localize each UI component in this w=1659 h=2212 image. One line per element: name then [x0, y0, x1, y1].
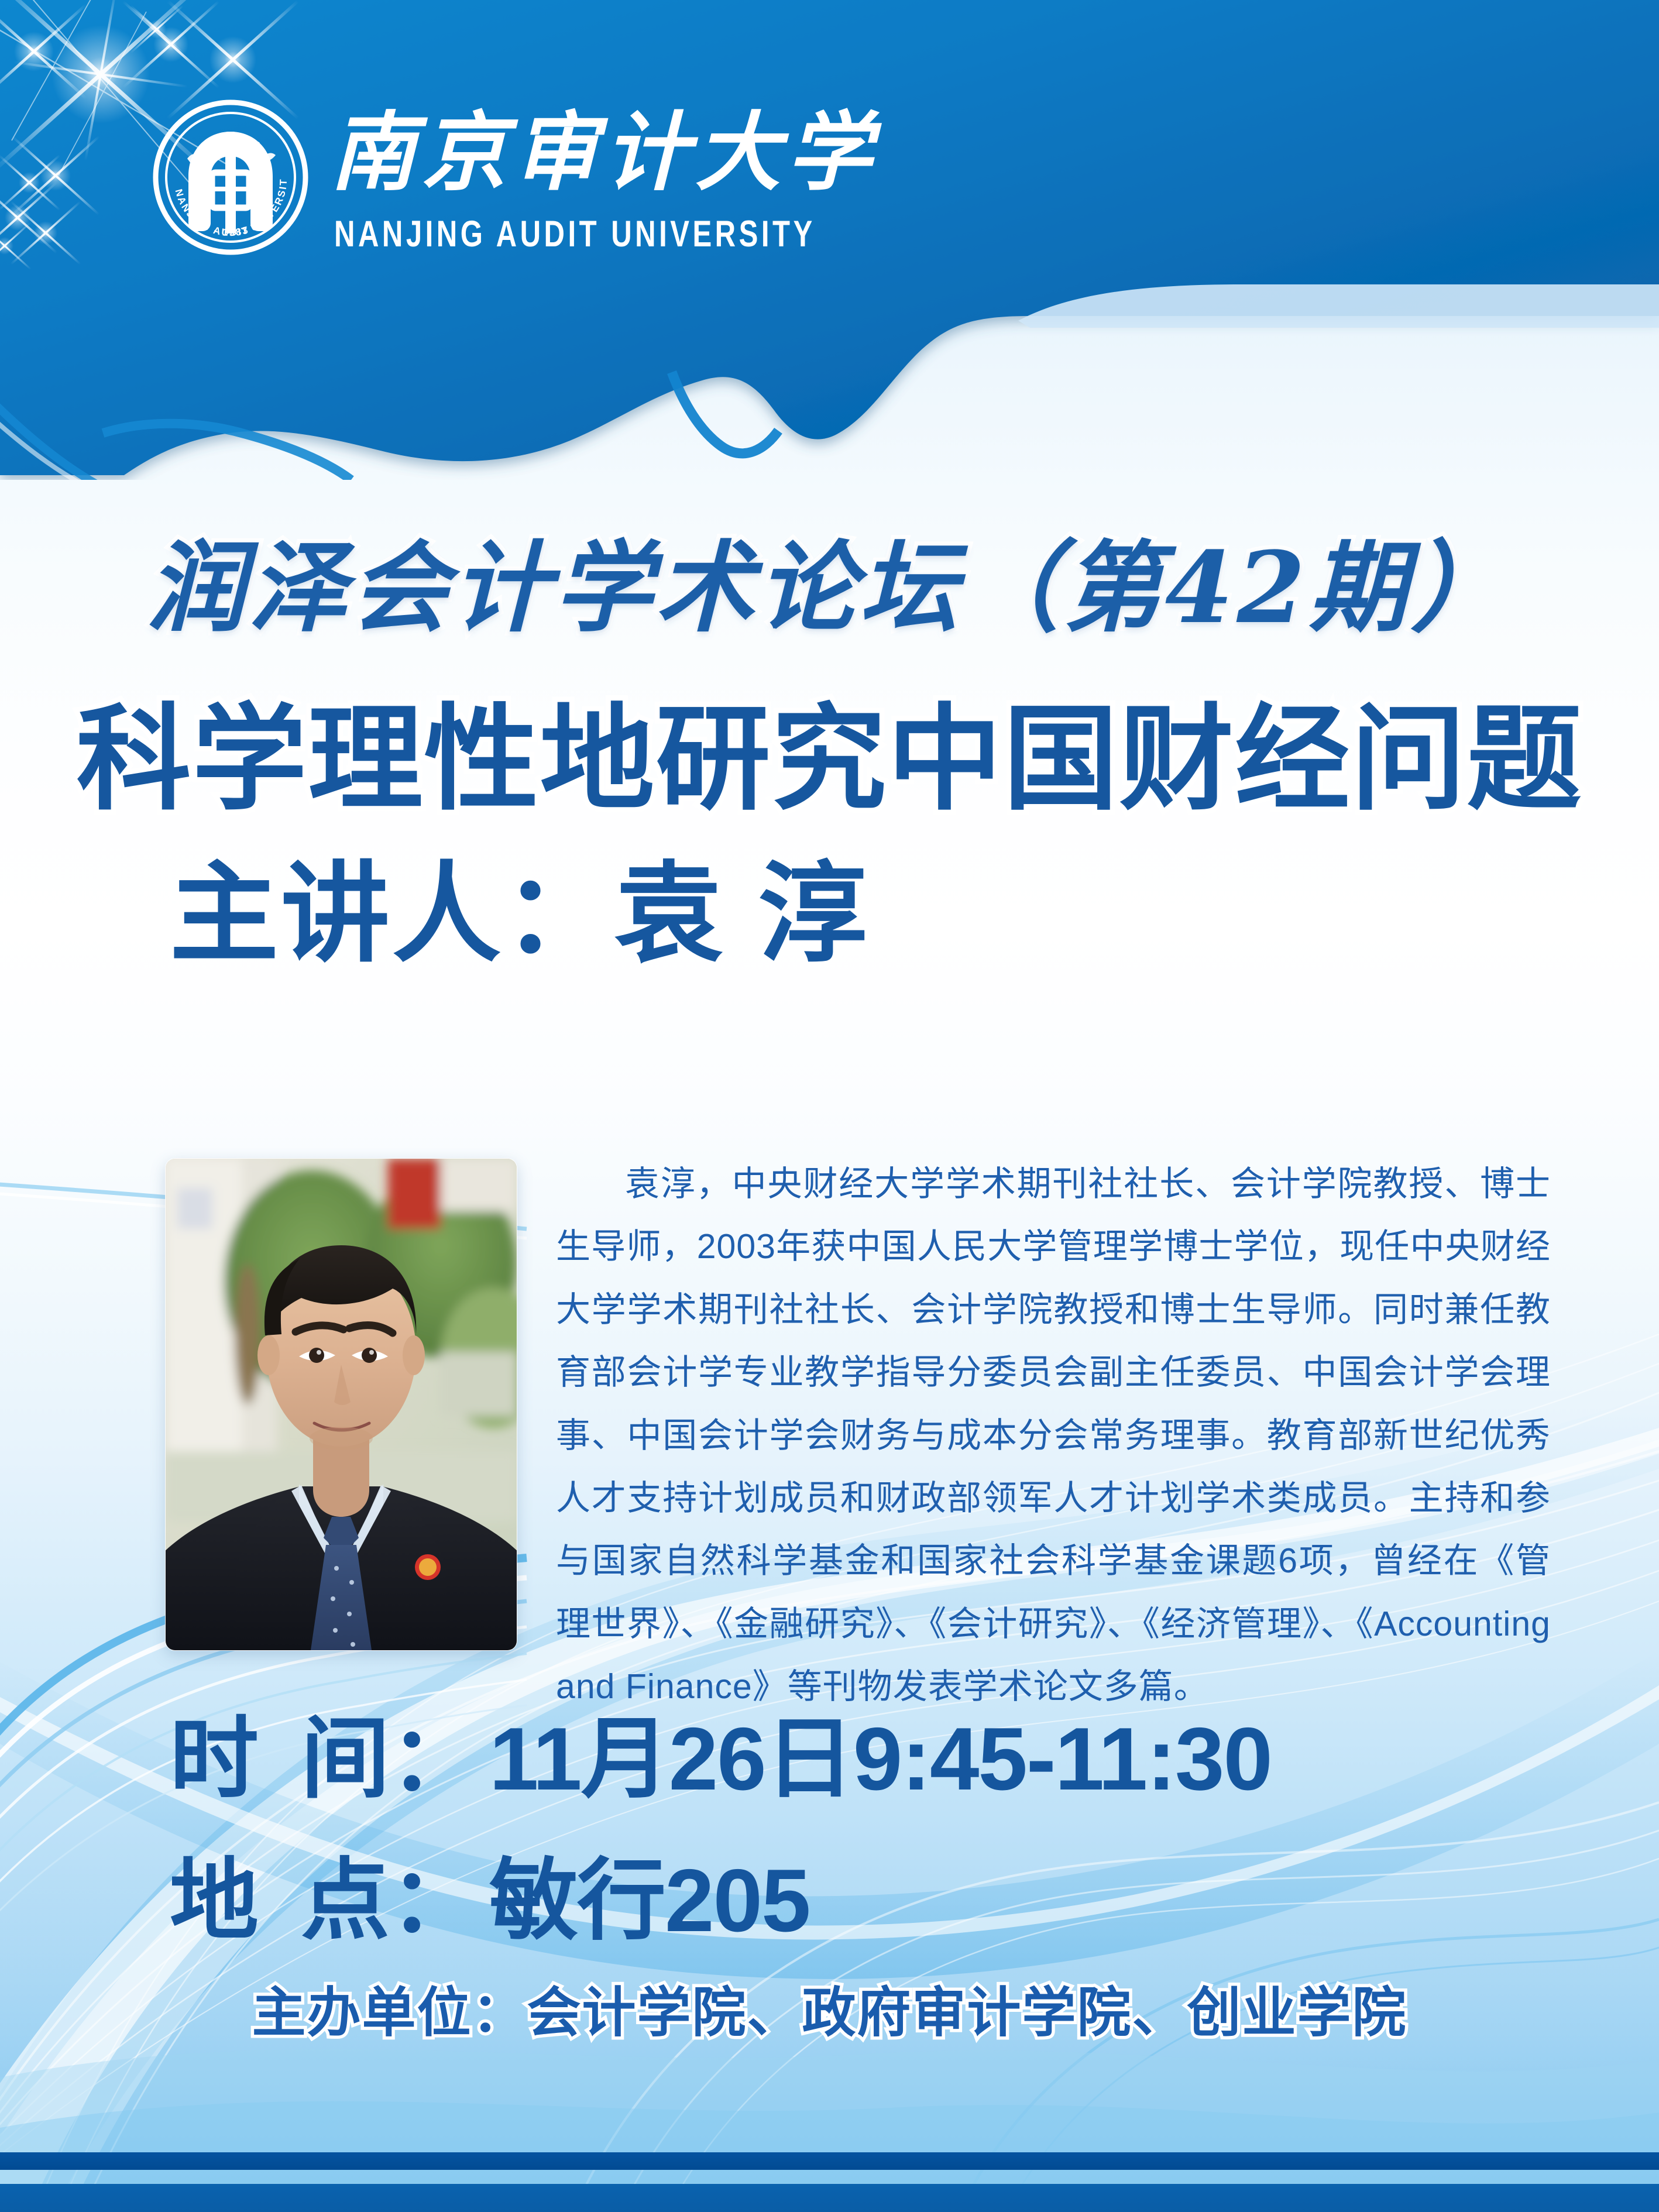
- time-colon: ：: [390, 1715, 479, 1804]
- poster-body: 润泽会计学术论坛（第42期） 科学理性地研究中国财经问题 主讲人：袁 淳: [0, 480, 1659, 2212]
- university-seal-icon: NANJING AUDIT - 1983 - UNIVERSITY: [151, 98, 310, 257]
- event-details: 时间：11月26日9:45-11:30 地点：敏行205: [170, 1715, 1457, 1998]
- profile-row: 袁淳，中央财经大学学术期刊社社长、会计学院教授、博士生导师，2003年获中国人民…: [0, 1159, 1659, 1685]
- time-value: 11月26日9:45-11:30: [489, 1715, 1272, 1804]
- place-value: 敏行205: [489, 1856, 810, 1945]
- time-label: 时间: [170, 1715, 390, 1804]
- footer-bar-upper: [0, 2152, 1659, 2170]
- place-label: 地点: [170, 1856, 390, 1945]
- university-name-en: NANJING AUDIT UNIVERSITY: [334, 213, 816, 255]
- lecture-main-title: 科学理性地研究中国财经问题: [0, 702, 1659, 817]
- forum-series-title: 润泽会计学术论坛（第42期）: [0, 538, 1659, 637]
- speaker-name: 袁 淳: [614, 854, 870, 975]
- university-name-cn-calligraphy: 南京审计大学: [330, 104, 950, 204]
- event-place-row: 地点：敏行205: [170, 1856, 1457, 1945]
- place-colon: ：: [390, 1856, 479, 1945]
- organizers-footer: 主办单位：会计学院、政府审计学院、创业学院: [0, 1984, 1659, 2043]
- poster-root: NANJING AUDIT - 1983 - UNIVERSITY: [0, 0, 1659, 2212]
- speaker-line: 主讲人：袁 淳: [170, 860, 1340, 969]
- footer-bar-lower: [0, 2184, 1659, 2212]
- svg-text:南京审计大学: 南京审计大学: [330, 104, 882, 202]
- speaker-biography: 袁淳，中央财经大学学术期刊社社长、会计学院教授、博士生导师，2003年获中国人民…: [556, 1153, 1551, 1718]
- university-wordmark: 南京审计大学 NANJING AUDIT UNIVERSITY: [330, 104, 952, 255]
- header-content: NANJING AUDIT - 1983 - UNIVERSITY: [0, 0, 1659, 363]
- event-time-row: 时间：11月26日9:45-11:30: [170, 1715, 1457, 1804]
- speaker-portrait-photo: [166, 1159, 517, 1650]
- speaker-label: 主讲人：: [170, 854, 614, 975]
